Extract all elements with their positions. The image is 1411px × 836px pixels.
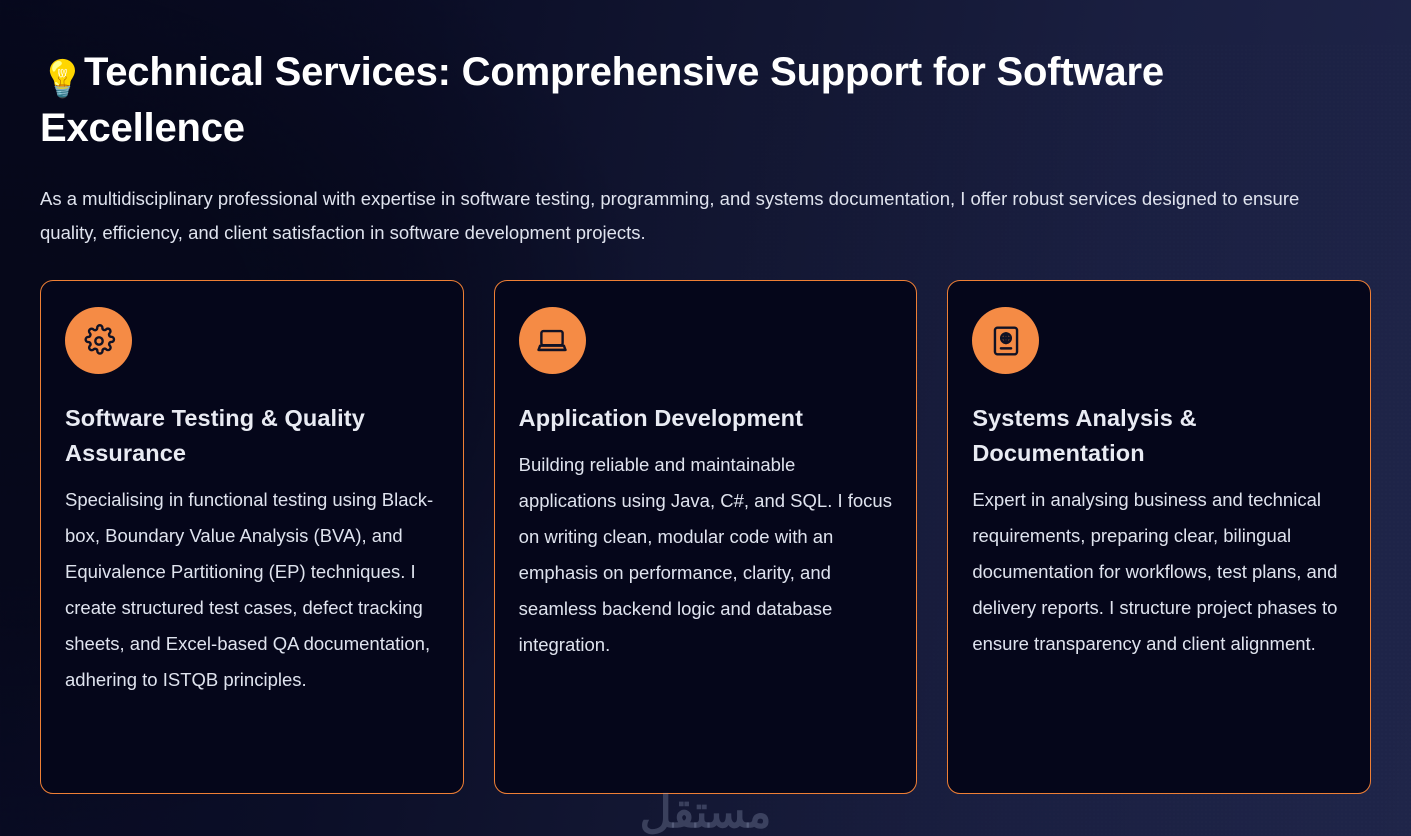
- card-body: Expert in analysing business and technic…: [972, 482, 1346, 662]
- watermark-arabic-text: مستقل: [0, 788, 1411, 836]
- service-card-systems-analysis[interactable]: Systems Analysis & Documentation Expert …: [947, 280, 1371, 794]
- service-card-application-development[interactable]: Application Development Building reliabl…: [494, 280, 918, 794]
- service-card-software-testing[interactable]: Software Testing & Quality Assurance Spe…: [40, 280, 464, 794]
- service-cards: Software Testing & Quality Assurance Spe…: [40, 280, 1371, 794]
- gear-icon: [65, 307, 132, 374]
- laptop-icon: [519, 307, 586, 374]
- intro-paragraph: As a multidisciplinary professional with…: [40, 182, 1340, 250]
- card-title: Application Development: [519, 401, 893, 436]
- watermark: مستقل mostaql.com: [0, 788, 1411, 836]
- card-title: Systems Analysis & Documentation: [972, 401, 1346, 471]
- services-page: 💡Technical Services: Comprehensive Suppo…: [0, 44, 1411, 836]
- light-bulb-icon: 💡: [40, 61, 84, 97]
- page-title-text: Technical Services: Comprehensive Suppor…: [40, 50, 1164, 150]
- card-body: Building reliable and maintainable appli…: [519, 447, 893, 663]
- page-title: 💡Technical Services: Comprehensive Suppo…: [40, 44, 1330, 156]
- passport-icon: [972, 307, 1039, 374]
- card-title: Software Testing & Quality Assurance: [65, 401, 439, 471]
- card-body: Specialising in functional testing using…: [65, 482, 439, 698]
